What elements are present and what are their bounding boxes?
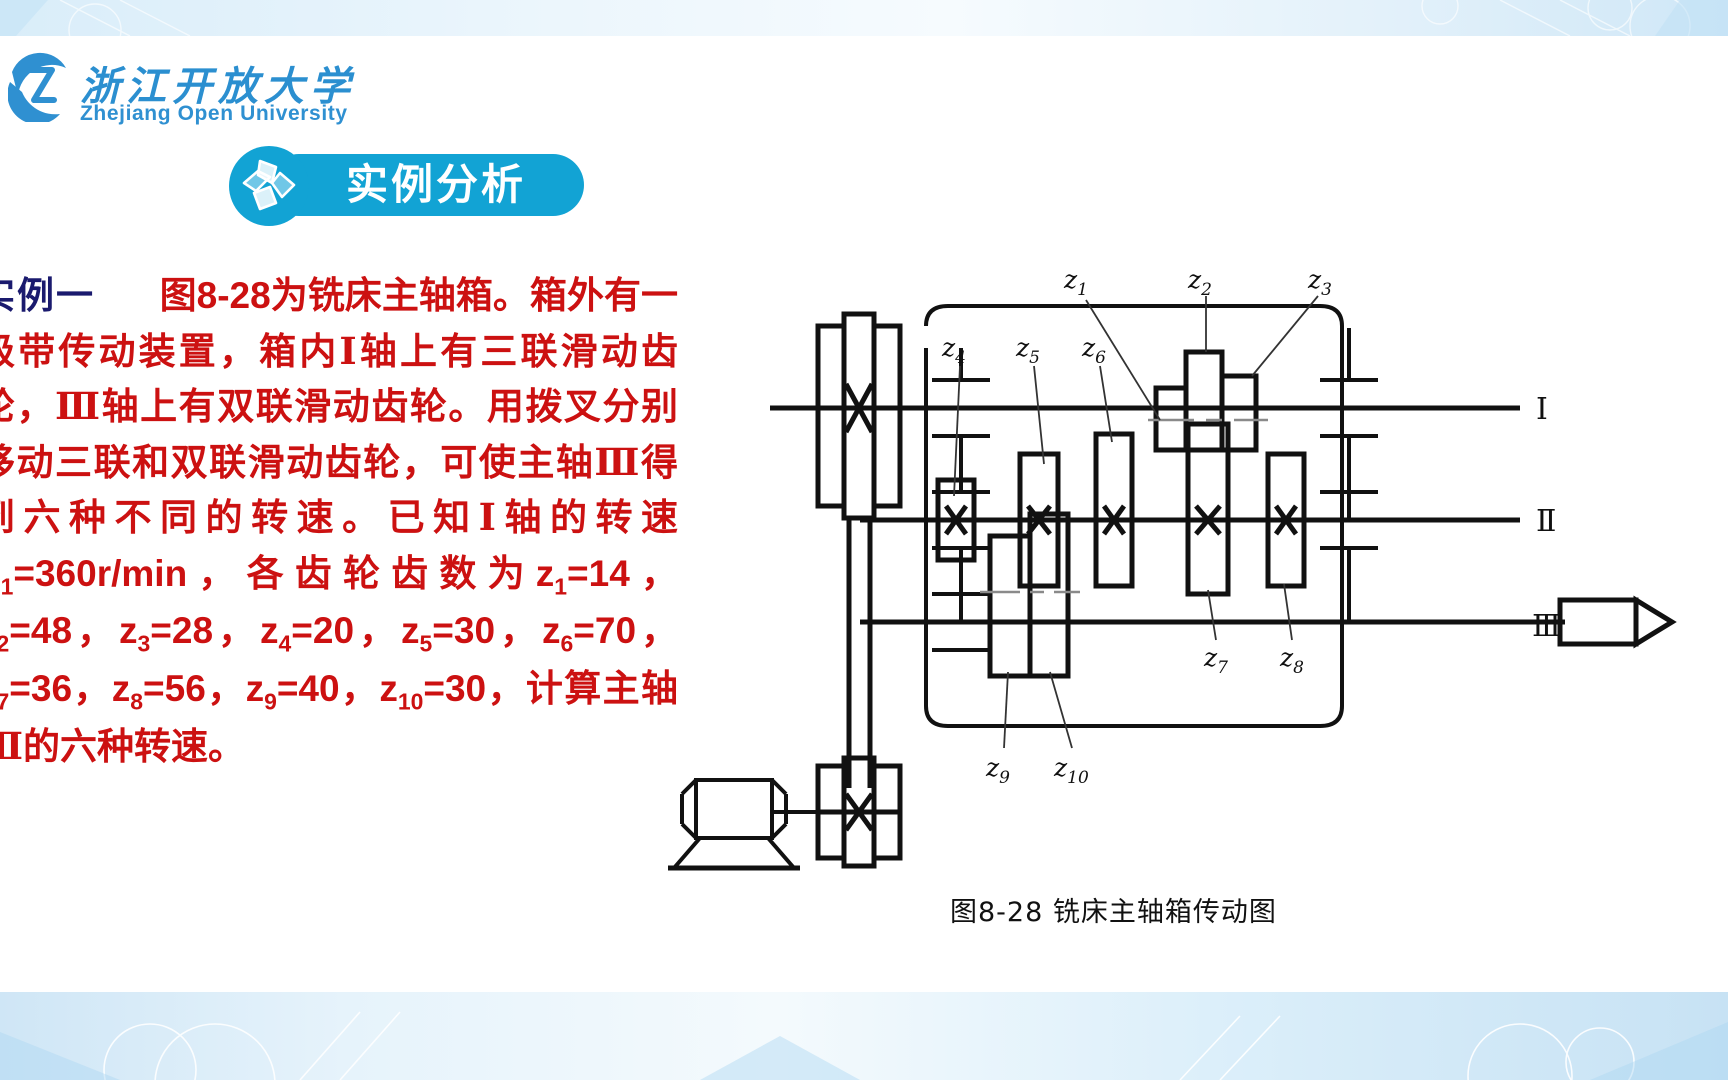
belt-pulley-main: [844, 314, 874, 518]
gear-label-z2: z2: [1187, 265, 1212, 300]
motor-symbol: [668, 780, 818, 868]
leader-z7: [1208, 590, 1216, 640]
leader-z5: [1034, 366, 1044, 464]
section-title-pill: 实例分析: [268, 154, 584, 216]
shaft-label-III: Ⅲ: [1532, 609, 1561, 644]
gear-label-z4: z4: [941, 333, 966, 368]
section-title-label: 实例分析: [346, 164, 526, 206]
gear-label-z6: z6: [1081, 333, 1106, 368]
pinwheel-papers-icon: [229, 146, 309, 226]
case-study-paragraph: 图8-28为铣床主轴箱。箱外有一级带传动装置，箱内Ⅰ轴上有三联滑动齿轮，Ⅲ轴上有…: [0, 273, 678, 768]
gear-z10: [1030, 514, 1068, 676]
gear-label-z3: z3: [1307, 265, 1332, 300]
gear-label-z1: z1: [1063, 265, 1088, 300]
leader-z6: [1100, 366, 1112, 442]
logo-mark-icon: [8, 52, 72, 122]
shaft-label-II: Ⅱ: [1536, 504, 1556, 539]
case-study-text: 实例一 图8-28为铣床主轴箱。箱外有一级带传动装置，箱内Ⅰ轴上有三联滑动齿轮，…: [0, 268, 678, 774]
gear-label-z7: z7: [1203, 643, 1228, 678]
gear-z2: [1186, 352, 1222, 450]
figure-caption: 图8-28 铣床主轴箱传动图: [950, 890, 1277, 929]
belt-pulley-upper-flange: [818, 326, 844, 506]
case-study-lead: 实例一: [0, 273, 95, 317]
gear-label-z10: z10: [1053, 753, 1089, 788]
bottom-decorative-pattern: [0, 992, 1728, 1080]
logo-english-name: Zhejiang Open University: [80, 102, 348, 126]
spindle-nose: [1560, 600, 1672, 644]
slide-root: 浙江开放大学 Zhejiang Open University 实例分析 实例一…: [0, 0, 1728, 1080]
leader-z8: [1284, 584, 1292, 640]
top-decorative-pattern: [0, 0, 1728, 36]
gear-label-z9: z9: [985, 753, 1010, 788]
leader-z10: [1050, 672, 1072, 748]
belt-pulley-lower-flange: [874, 326, 900, 506]
gearbox-transmission-diagram: z1 z2 z3 z4 z5 z6 z7 z8 z9 z10 Ⅰ Ⅱ Ⅲ: [660, 228, 1728, 878]
leader-z9: [1004, 672, 1008, 748]
gear-label-z8: z8: [1279, 643, 1304, 678]
gear-z9: [990, 536, 1030, 676]
university-logo: 浙江开放大学 Zhejiang Open University: [8, 52, 348, 140]
gear-z6: [1096, 434, 1132, 586]
shaft-label-I: Ⅰ: [1536, 392, 1548, 427]
gear-label-z5: z5: [1015, 333, 1040, 368]
